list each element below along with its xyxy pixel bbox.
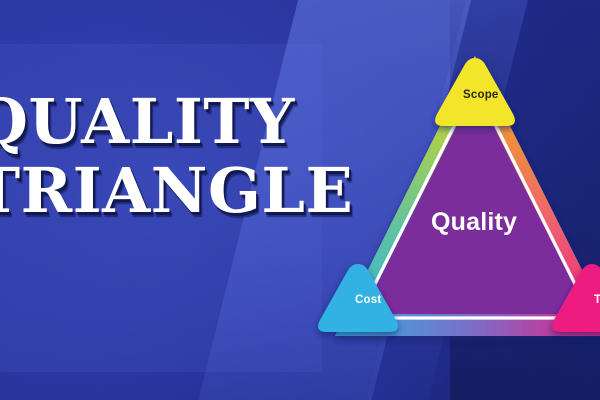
page-title: QUALITY TRIANGLE — [0, 92, 344, 222]
headline-line-2: TRIANGLE — [0, 161, 344, 222]
triangle-graphic — [330, 48, 600, 344]
corner-badge-scope[interactable] — [435, 58, 515, 126]
headline-line-1: QUALITY — [0, 92, 344, 153]
project-triangle-diagram: Scope Cost Time Quality — [330, 48, 600, 344]
quality-triangle-banner: QUALITY TRIANGLE — [0, 0, 600, 400]
